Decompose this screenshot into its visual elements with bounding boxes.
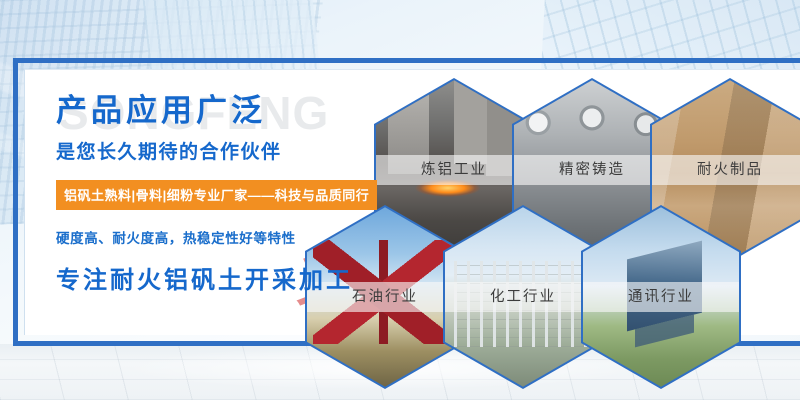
banner-subtitle: 是您长久期待的合作伙伴 — [56, 137, 386, 164]
hexagon-label-casting: 精密铸造 — [514, 155, 670, 185]
banner-text-block: SONGFENG 产品应用广泛 是您长久期待的合作伙伴 铝矾土熟料|骨料|细粉专… — [56, 92, 386, 295]
banner-orange-tagline: 铝矾土熟料|骨料|细粉专业厂家——科技与品质同行 — [56, 180, 377, 210]
banner-title: 产品应用广泛 — [56, 92, 386, 131]
hexagon-label-communication: 通讯行业 — [583, 282, 739, 312]
banner-feature-line: 硬度高、耐火度高，热稳定性好等特性 — [56, 227, 386, 247]
banner-stage: SONGFENG 产品应用广泛 是您长久期待的合作伙伴 铝矾土熟料|骨料|细粉专… — [0, 0, 800, 400]
banner-headline: 专注耐火铝矾土开采加工 — [56, 260, 386, 295]
hexagon-label-smelting: 炼铝工业 — [376, 155, 532, 185]
hexagon-label-chemical: 化工行业 — [445, 282, 601, 312]
hexagon-label-refractory: 耐火制品 — [652, 155, 800, 185]
